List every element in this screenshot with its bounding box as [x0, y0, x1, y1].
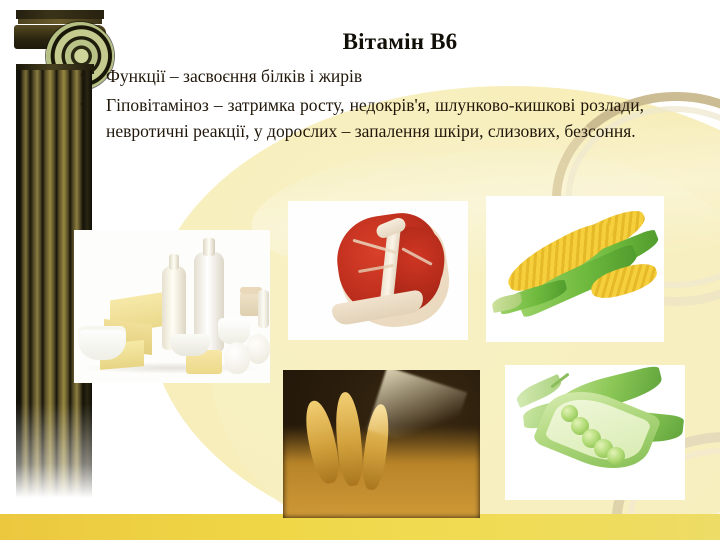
list-item: • Гіповітаміноз – затримка росту, недокр… — [62, 92, 662, 144]
dairy-tube — [258, 290, 269, 328]
bullet-list: • Функції – засвоєння білків і жирів • Г… — [62, 63, 662, 144]
pea — [607, 447, 625, 465]
bullet-marker-icon: • — [80, 63, 86, 89]
corn-cobs-photo — [486, 196, 664, 342]
dairy-dish — [170, 334, 210, 356]
list-item-text: Функції – засвоєння білків і жирів — [106, 66, 362, 86]
list-item: • Функції – засвоєння білків і жирів — [62, 63, 662, 89]
bullet-marker-icon: • — [80, 92, 86, 118]
column-abacus — [16, 10, 104, 19]
page-title: Вітамін В6 — [120, 29, 680, 55]
raw-beef-steak-photo — [288, 201, 468, 340]
slide-canvas: Вітамін В6 • Функції – засвоєння білків … — [0, 0, 720, 540]
dairy-cup — [218, 318, 250, 344]
list-item-text: Гіповітаміноз – затримка росту, недокрів… — [106, 95, 644, 141]
dairy-products-photo — [74, 230, 270, 383]
dairy-egg — [224, 342, 250, 374]
green-pea-pods-photo — [505, 365, 685, 500]
wheat-ears-photo — [283, 370, 480, 518]
dairy-bowl — [78, 326, 126, 360]
